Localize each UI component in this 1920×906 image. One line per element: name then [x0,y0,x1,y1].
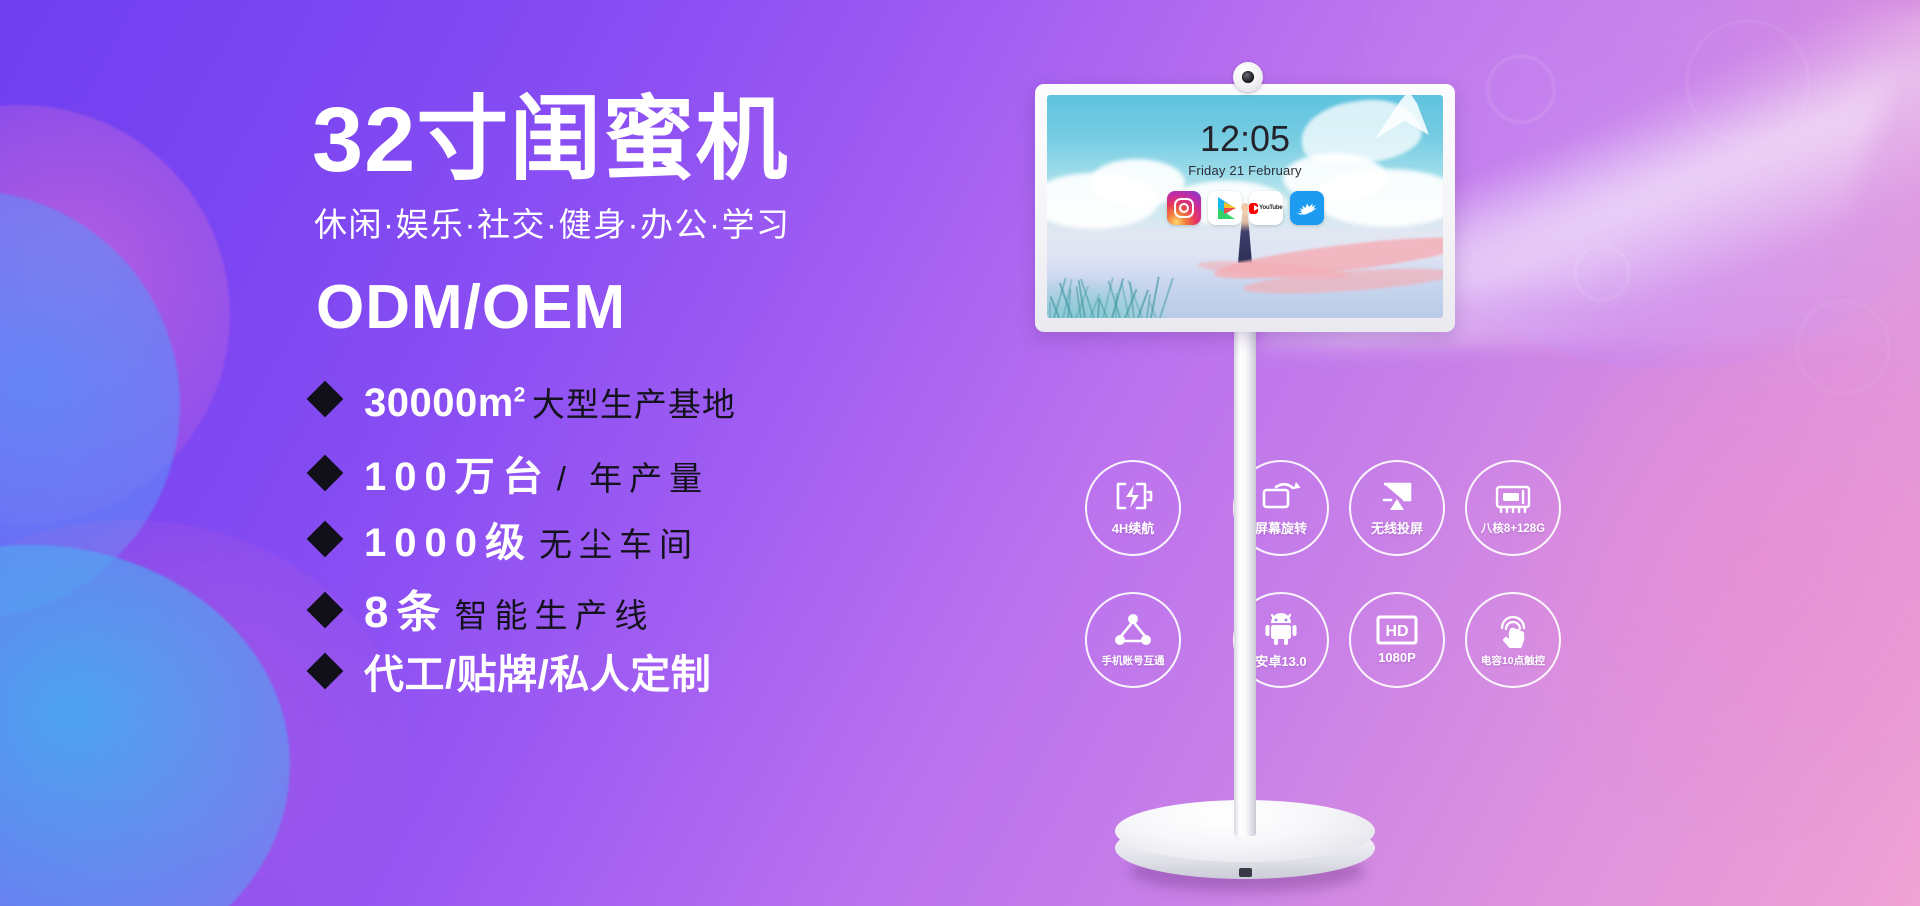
android-icon [1264,610,1298,646]
feature-description-text: / 年产量 [557,452,709,500]
feature-badge-label: 4H续航 [1112,518,1155,537]
device-stand-pole [1234,326,1256,836]
touch-multitouch-icon [1494,612,1532,648]
clock-date: Friday 21 February [1047,163,1443,178]
decorative-ring [1487,55,1555,123]
svg-text:HD: HD [1385,623,1408,640]
feature-badge[interactable]: HD 1080P [1349,592,1445,688]
youtube-app-icon[interactable]: YouTube [1249,191,1283,225]
decorative-ring [1574,245,1630,301]
feature-list-item: 100万台/ 年产量 [312,444,872,510]
webcam-icon [1233,62,1263,92]
decorative-ring [1686,20,1810,144]
feature-list: 30000m2大型生产基地100万台/ 年产量1000级无尘车间8条智能生产线代… [312,378,872,708]
feature-badge[interactable]: 无线投屏 [1349,460,1445,556]
feature-description-text: 无尘车间 [539,518,699,566]
base-foot [1239,868,1252,877]
clock-time: 12:05 [1047,121,1443,157]
feature-list-item: 30000m2大型生产基地 [312,378,872,444]
feature-badge-label: 八核8+128G [1481,520,1545,536]
twitter-app-icon[interactable] [1290,191,1324,225]
feature-badge-label: 手机账号互通 [1102,653,1165,668]
grass-decoration [1047,270,1167,318]
hd-icon: HD [1376,615,1418,645]
screen-rotate-icon [1260,479,1302,513]
grass-blade [1159,278,1173,318]
feature-list-item: 1000级无尘车间 [312,510,872,576]
feature-description-text: 大型生产基地 [532,378,736,426]
instagram-app-icon[interactable] [1167,191,1201,225]
battery-charging-icon [1113,479,1153,513]
device-screen: 12:05 Friday 21 February YouTube [1047,95,1443,318]
feature-badge-label: 1080P [1378,650,1416,665]
feature-badge-grid: 4H续航 屏幕旋转 无线投屏 八核8+128G 手机账号互通 [1085,460,1665,722]
twitter-bird-icon [1296,199,1318,217]
feature-list-item: 代工/贴牌/私人定制 [312,642,872,708]
feature-highlight-text: 8条 [364,576,448,640]
feature-list-item: 8条智能生产线 [312,576,872,642]
google-play-app-icon[interactable] [1208,191,1242,225]
diamond-bullet-icon [307,592,344,629]
wallpaper-figure [1238,203,1252,265]
feature-badge[interactable]: 电容10点触控 [1465,592,1561,688]
figure-head [1241,203,1249,212]
diamond-bullet-icon [307,521,344,558]
feature-badge-label: 屏幕旋转 [1255,518,1307,537]
feature-badge-label: 电容10点触控 [1481,653,1545,668]
subtitle: 休闲·娱乐·社交·健身·办公·学习 [314,198,790,246]
feature-badge-label: 安卓13.0 [1255,651,1306,670]
feature-description-text: 智能生产线 [454,589,654,637]
superscript-unit: 2 [514,384,526,407]
grass-blade [1049,302,1051,318]
page-title: 32寸闺蜜机 [312,92,788,189]
feature-highlight-text: 代工/贴牌/私人定制 [364,642,711,700]
figure-body [1238,211,1252,263]
grass-blade [1128,281,1143,318]
feature-badge[interactable]: 八核8+128G [1465,460,1561,556]
feature-badge[interactable]: 手机账号互通 [1085,592,1181,688]
diamond-bullet-icon [307,381,344,418]
odm-oem-heading: ODM/OEM [316,272,626,343]
monitor-bezel: 12:05 Friday 21 February YouTube [1035,84,1455,332]
feature-badge-label: 无线投屏 [1371,518,1423,537]
feature-highlight-text: 1000级 [364,510,533,568]
cast-screen-icon [1377,479,1417,513]
diamond-bullet-icon [307,653,344,690]
marketing-copy-column: 32寸闺蜜机 休闲·娱乐·社交·健身·办公·学习 ODM/OEM 30000m2… [0,0,880,906]
youtube-wordmark: YouTube [1259,205,1282,211]
play-triangle-red [1224,208,1236,214]
promo-banner: 32寸闺蜜机 休闲·娱乐·社交·健身·办公·学习 ODM/OEM 30000m2… [0,0,1920,906]
feature-highlight-text: 30000m2 [364,381,526,426]
feature-badge[interactable]: 4H续航 [1085,460,1181,556]
diamond-bullet-icon [307,455,344,492]
cpu-chip-icon [1493,481,1533,515]
feature-highlight-text: 100万台 [364,444,551,502]
account-share-icon [1114,612,1152,648]
